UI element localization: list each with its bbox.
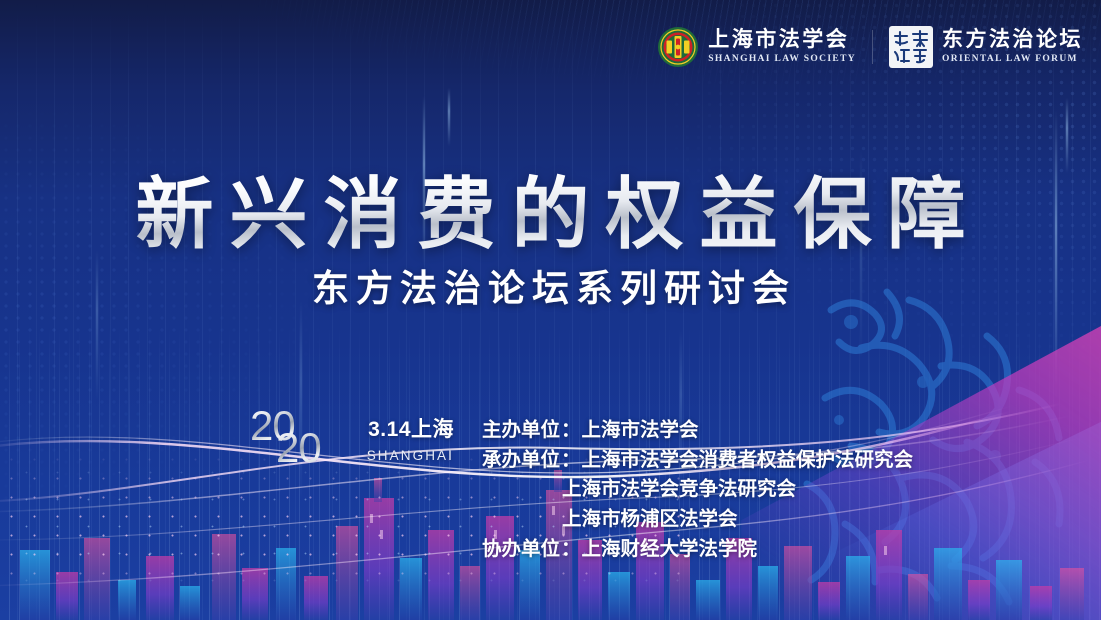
event-date-block: 3.14上海 SHANGHAI	[350, 404, 454, 463]
event-date-cn: 3.14上海	[350, 418, 454, 441]
organizer-row: 承办单位 ： 上海市法学会消费者权益保护法研究会	[474, 446, 913, 476]
page-title: 新兴消费的权益保障	[0, 152, 1101, 264]
organizer-list: 主办单位 ： 上海市法学会 承办单位 ： 上海市法学会消费者权益保护法研究会 上…	[468, 404, 913, 564]
organizer-row: 协办单位 ： 上海财经大学法学院	[474, 535, 913, 565]
organizer-colon: ：	[560, 535, 582, 565]
oriental-law-forum-seal-icon	[889, 26, 933, 68]
conference-poster: 上海市法学会 SHANGHAI LAW SOCIETY 东方法治论坛 ORIE	[0, 0, 1101, 620]
event-city-en: SHANGHAI	[350, 448, 454, 463]
organizer-value: 上海市杨浦区法学会	[562, 505, 738, 535]
organizer-value: 上海市法学会竞争法研究会	[562, 475, 796, 505]
top-sweep-lines	[0, 0, 1101, 140]
organizer-colon: ：	[560, 416, 582, 446]
organizer-row: 上海市杨浦区法学会	[474, 505, 913, 535]
society-name-en: SHANGHAI LAW SOCIETY	[708, 55, 856, 65]
page-subtitle: 东方法治论坛系列研讨会	[0, 258, 1101, 312]
organizer-value: 上海财经大学法学院	[582, 535, 758, 565]
logo-divider	[872, 30, 873, 64]
forum-name-cn: 东方法治论坛	[942, 29, 1083, 50]
event-info: 20 20 3.14上海 SHANGHAI 主办单位 ： 上海市法学会 承办单位…	[250, 404, 913, 564]
oriental-law-forum-logo: 东方法治论坛 ORIENTAL LAW FORUM	[889, 26, 1083, 68]
organizer-value: 上海市法学会消费者权益保护法研究会	[582, 446, 914, 476]
shanghai-law-society-seal-icon	[657, 26, 699, 68]
forum-name-en: ORIENTAL LAW FORUM	[942, 55, 1083, 65]
organizer-label: 协办单位	[474, 535, 560, 565]
organizer-row: 上海市法学会竞争法研究会	[474, 475, 913, 505]
organizer-colon: ：	[560, 446, 582, 476]
logo-bar: 上海市法学会 SHANGHAI LAW SOCIETY 东方法治论坛 ORIE	[657, 26, 1083, 68]
organizer-row: 主办单位 ： 上海市法学会	[474, 416, 913, 446]
oriental-law-forum-text: 东方法治论坛 ORIENTAL LAW FORUM	[942, 29, 1083, 65]
shanghai-law-society-logo: 上海市法学会 SHANGHAI LAW SOCIETY	[657, 26, 856, 68]
organizer-label: 承办单位	[474, 446, 560, 476]
society-name-cn: 上海市法学会	[708, 29, 856, 50]
organizer-value: 上海市法学会	[582, 416, 699, 446]
event-year: 20 20	[250, 405, 336, 471]
shanghai-law-society-text: 上海市法学会 SHANGHAI LAW SOCIETY	[708, 29, 856, 65]
event-year-bottom: 20	[276, 427, 321, 469]
organizer-label: 主办单位	[474, 416, 560, 446]
